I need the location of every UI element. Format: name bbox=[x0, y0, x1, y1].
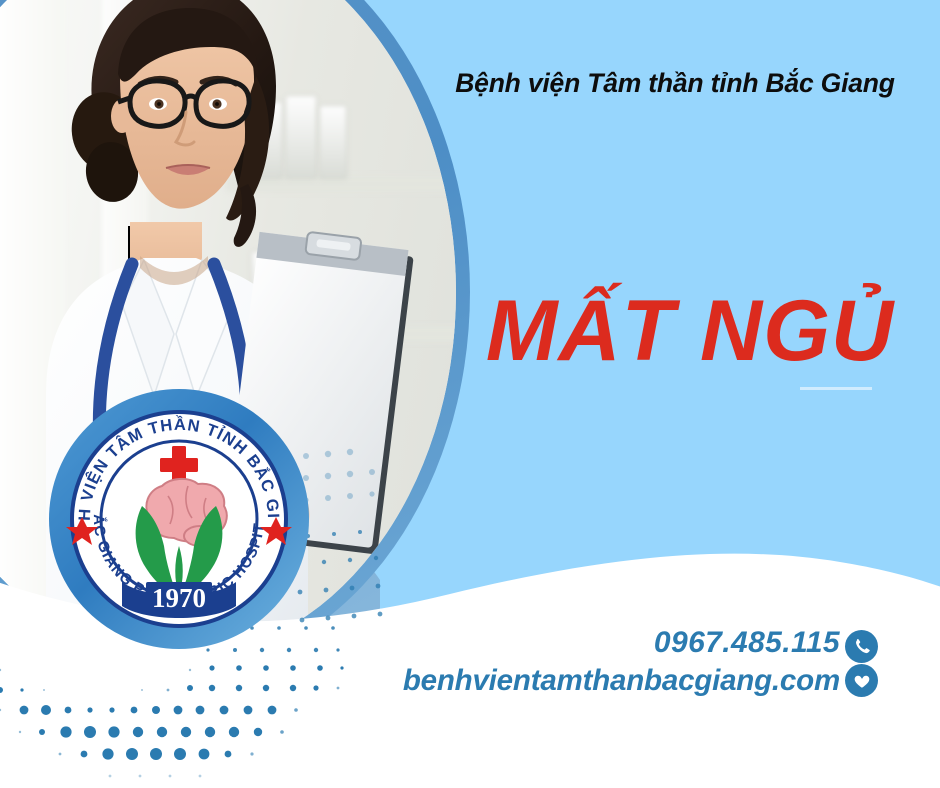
contact-phone[interactable]: 0967.485.115 bbox=[330, 626, 840, 660]
heart-icon[interactable] bbox=[845, 664, 878, 697]
contact-website[interactable]: benhvientamthanbacgiang.com bbox=[330, 664, 840, 697]
contact-icon-column bbox=[845, 630, 879, 698]
phone-icon[interactable] bbox=[845, 630, 878, 663]
logo-year: 1970 bbox=[152, 583, 206, 613]
contact-block: 0967.485.115 benhvientamthanbacgiang.com bbox=[330, 626, 840, 697]
hospital-title: Bệnh viện Tâm thần tỉnh Bắc Giang bbox=[440, 68, 910, 100]
headline-mat-ngu: MẤT NGỦ bbox=[470, 286, 910, 376]
headline-underline bbox=[800, 387, 872, 390]
hospital-logo: BỆNH VIỆN TÂM THẦN TỈNH BẮC GIANG BẮC GI… bbox=[46, 386, 312, 652]
poster-canvas: BỆNH VIỆN TÂM THẦN TỈNH BẮC GIANG BẮC GI… bbox=[0, 0, 940, 788]
